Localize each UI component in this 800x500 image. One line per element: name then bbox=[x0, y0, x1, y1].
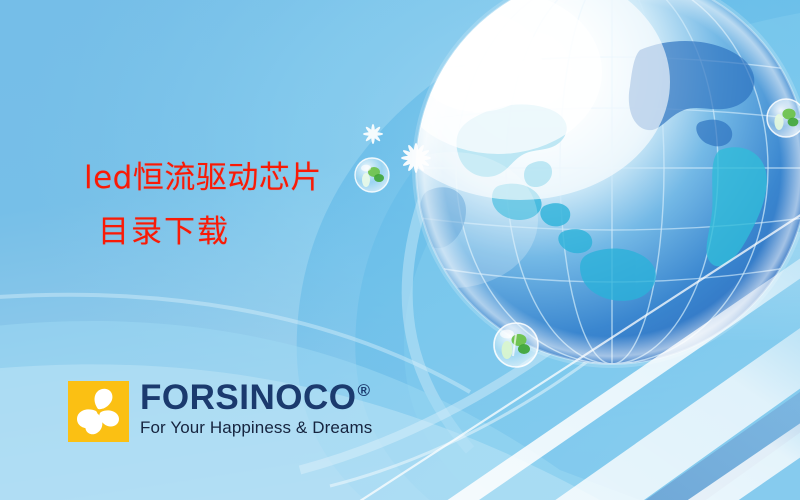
sparkle-small bbox=[363, 124, 383, 144]
logo-text-block: FORSINOCO® For Your Happiness & Dreams bbox=[140, 381, 372, 438]
bubble-sprout-right-edge bbox=[767, 99, 800, 137]
headline-text: led恒流驱动芯片 目录下载 bbox=[84, 158, 322, 253]
sparkle-large bbox=[401, 143, 431, 173]
headline-line-2: 目录下载 bbox=[98, 212, 322, 252]
pinwheel-flower-icon bbox=[68, 381, 129, 442]
city-skyline-silhouette bbox=[660, 100, 800, 340]
corner-diagonal-ribbons bbox=[300, 196, 800, 500]
logo-tagline: For Your Happiness & Dreams bbox=[140, 418, 372, 438]
bubble-sprout-lower bbox=[494, 323, 538, 367]
registered-trademark-icon: ® bbox=[357, 382, 370, 399]
earth-globe bbox=[366, 0, 800, 368]
bubble-sprout-upper-left bbox=[355, 158, 389, 192]
logo-brand-name: FORSINOCO bbox=[140, 381, 356, 415]
promo-banner: led恒流驱动芯片 目录下载 FORSINOCO® For Your Happi… bbox=[0, 0, 800, 500]
company-logo: FORSINOCO® For Your Happiness & Dreams bbox=[68, 381, 372, 442]
logo-wordmark: FORSINOCO® bbox=[140, 381, 372, 415]
headline-line-1: led恒流驱动芯片 bbox=[84, 158, 322, 198]
